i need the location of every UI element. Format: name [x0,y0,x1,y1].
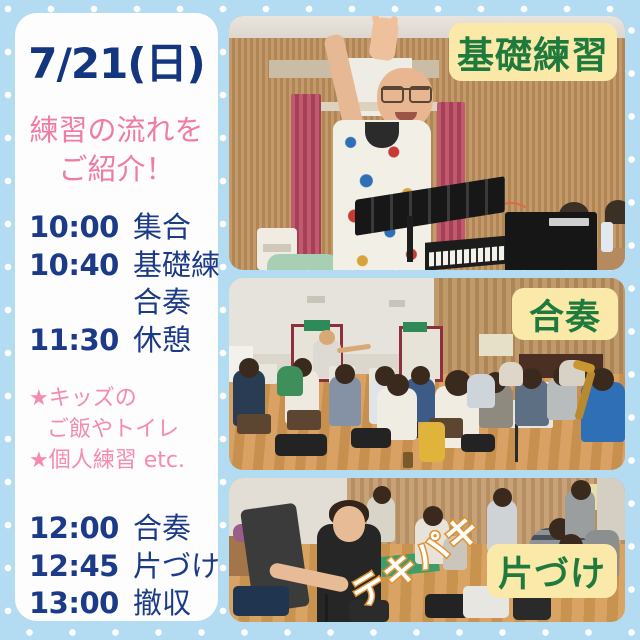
schedule-activity: 合奏 [133,510,191,548]
photo-ensemble: 合奏 [229,278,625,470]
intro-heading: 練習の流れを ご紹介！ [15,111,218,188]
schedule-activity: 集合 [133,209,191,247]
event-date: 7/21(日) [15,30,218,91]
schedule-list-afternoon: 12:00 合奏 12:45 片づけ 13:00 撤収 [15,510,218,623]
schedule-activity: 合奏 [133,284,191,322]
break-notes: ★キッズの ご飯やトイレ ★個人練習 etc. [15,383,218,477]
schedule-time: 11:30 [29,322,125,360]
schedule-row: 10:00 集合 [15,209,218,247]
schedule-row: 12:00 合奏 [15,510,218,548]
poster-root: 7/21(日) 練習の流れを ご紹介！ 10:00 集合 10:40 基礎練 合… [0,0,640,640]
note-line: ご飯やトイレ [15,414,218,445]
photo-cleanup: テキパキ 片づけ [229,478,625,622]
intro-line-1: 練習の流れを [29,113,203,147]
schedule-row: 10:40 基礎練 [15,247,218,285]
schedule-activity: 休憩 [133,322,191,360]
schedule-activity: 片づけ [133,548,220,586]
photo-tag-cleanup: 片づけ [487,544,617,598]
schedule-row: 12:45 片づけ [15,548,218,586]
schedule-row: 11:30 休憩 [15,322,218,360]
photo-tag-basic-practice: 基礎練習 [449,23,617,81]
schedule-row: 13:00 撤収 [15,585,218,623]
schedule-time: 10:00 [29,209,125,247]
intro-line-2: ご紹介！ [15,150,218,189]
schedule-activity: 撤収 [133,585,191,623]
note-line: ★個人練習 etc. [15,445,218,476]
schedule-time: 13:00 [29,585,125,623]
schedule-time: 12:00 [29,510,125,548]
photo-basic-practice: 基礎練習 [229,16,625,270]
schedule-time: 12:45 [29,548,125,586]
schedule-list-morning: 10:00 集合 10:40 基礎練 合奏 11:30 休憩 [15,209,218,360]
schedule-time: 10:40 [29,247,125,285]
schedule-row: 合奏 [15,284,218,322]
schedule-activity: 基礎練 [133,247,220,285]
photo-tag-ensemble: 合奏 [512,288,618,340]
schedule-card: 7/21(日) 練習の流れを ご紹介！ 10:00 集合 10:40 基礎練 合… [15,13,218,621]
note-line: ★キッズの [15,383,218,414]
